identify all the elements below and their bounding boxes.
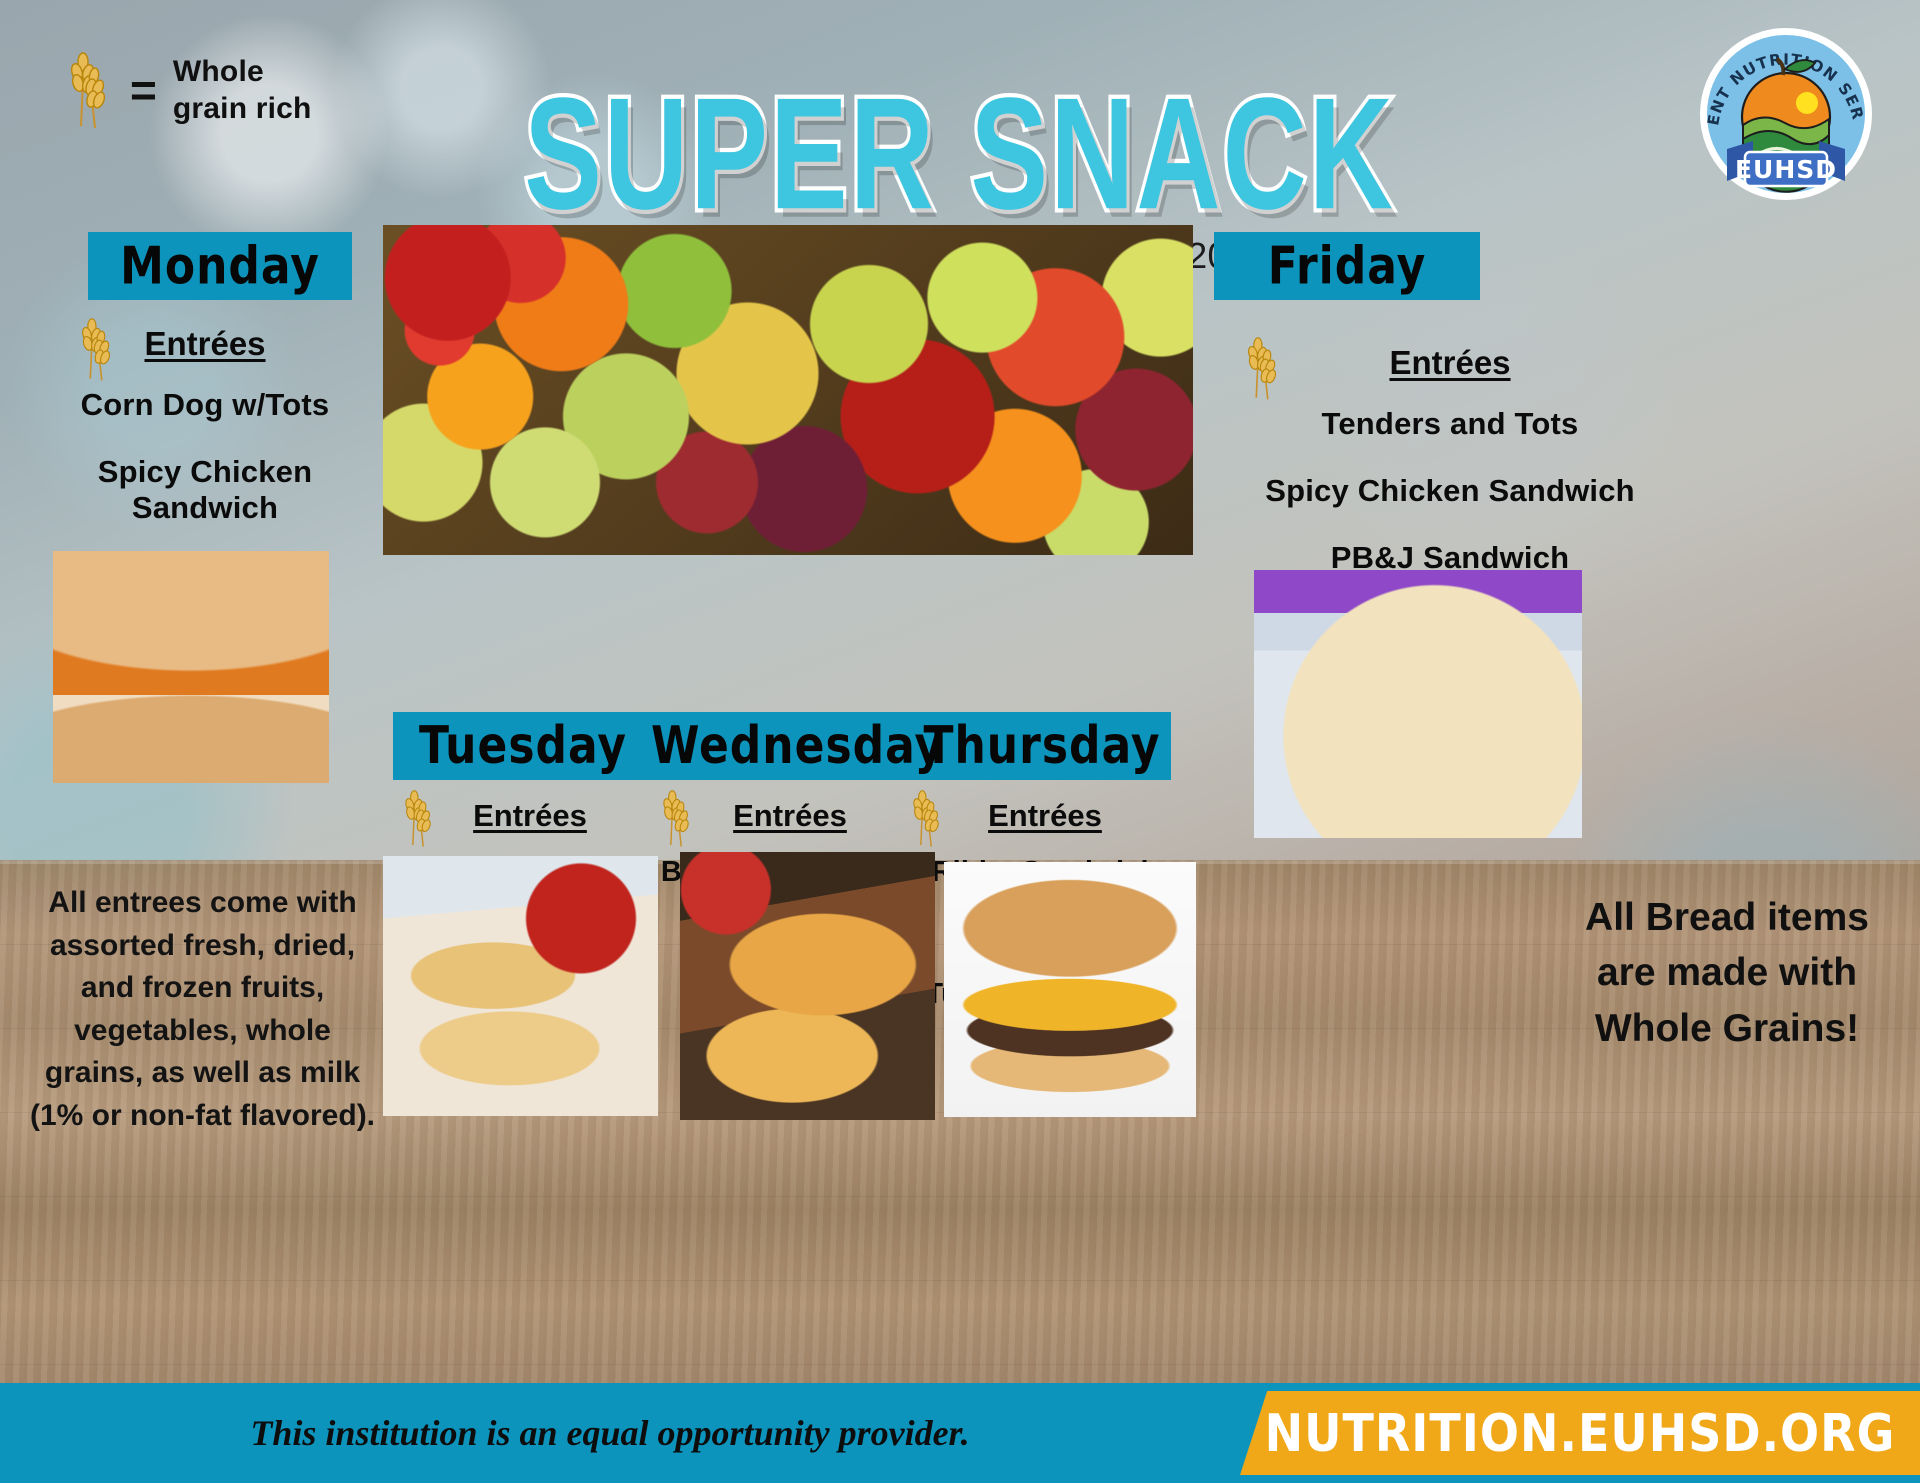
day-name-thursday: Thursday: [913, 716, 1171, 776]
day-name-wednesday: Wednesday: [651, 716, 913, 776]
euhsd-student-nutrition-logo: STUDENT NUTRITION SERVICES EUHSD: [1697, 25, 1875, 203]
pbj-sandwich-photo: [1254, 570, 1582, 838]
menu-item: Spicy Chicken Sandwich: [1190, 473, 1710, 509]
buffalo-quesadilla-photo: [680, 852, 935, 1120]
equal-opportunity-statement: This institution is an equal opportunity…: [0, 1412, 1220, 1454]
day-name-friday: Friday: [1268, 236, 1427, 296]
menu-column-friday: Entrées Tenders and Tots Spicy Chicken S…: [1190, 344, 1710, 576]
bosco-sticks-photo: [383, 856, 658, 1116]
entrees-heading: Entrées: [1190, 344, 1710, 382]
svg-text:EUHSD: EUHSD: [1735, 155, 1837, 184]
entrees-heading: Entrées: [640, 798, 940, 834]
entrees-heading: Entrées: [915, 798, 1175, 834]
menu-item: Corn Dog w/Tots: [30, 387, 380, 423]
menu-item: Tenders and Tots: [1190, 406, 1710, 442]
day-header-friday: Friday: [1214, 232, 1480, 300]
entrees-heading: Entrées: [30, 325, 380, 363]
spicy-chicken-sandwich-photo: [53, 551, 329, 783]
entrees-heading: Entrées: [400, 798, 660, 834]
day-name-monday: Monday: [120, 236, 320, 296]
whole-grain-bread-note: All Bread items are made with Whole Grai…: [1562, 890, 1892, 1056]
fruit-assortment-photo: [383, 225, 1193, 555]
day-header-monday: Monday: [88, 232, 352, 300]
nutrition-website-url[interactable]: NUTRITION.EUHSD.ORG: [1265, 1403, 1896, 1463]
poster-title-wrap: SUPER SNACK: [0, 62, 1920, 191]
page-title: SUPER SNACK: [525, 62, 1396, 245]
menu-item: Spicy Chicken Sandwich: [30, 454, 380, 526]
cheeseburger-photo: [944, 862, 1196, 1117]
super-snack-menu-poster: = Whole grain rich SUPER SNACK November …: [0, 0, 1920, 1483]
day-header-group-tue-wed-thu: Tuesday Wednesday Thursday: [393, 712, 1171, 780]
nutrition-website-badge[interactable]: NUTRITION.EUHSD.ORG: [1240, 1391, 1920, 1475]
day-name-tuesday: Tuesday: [393, 716, 653, 776]
entree-accompaniment-note: All entrees come with assorted fresh, dr…: [30, 882, 375, 1138]
